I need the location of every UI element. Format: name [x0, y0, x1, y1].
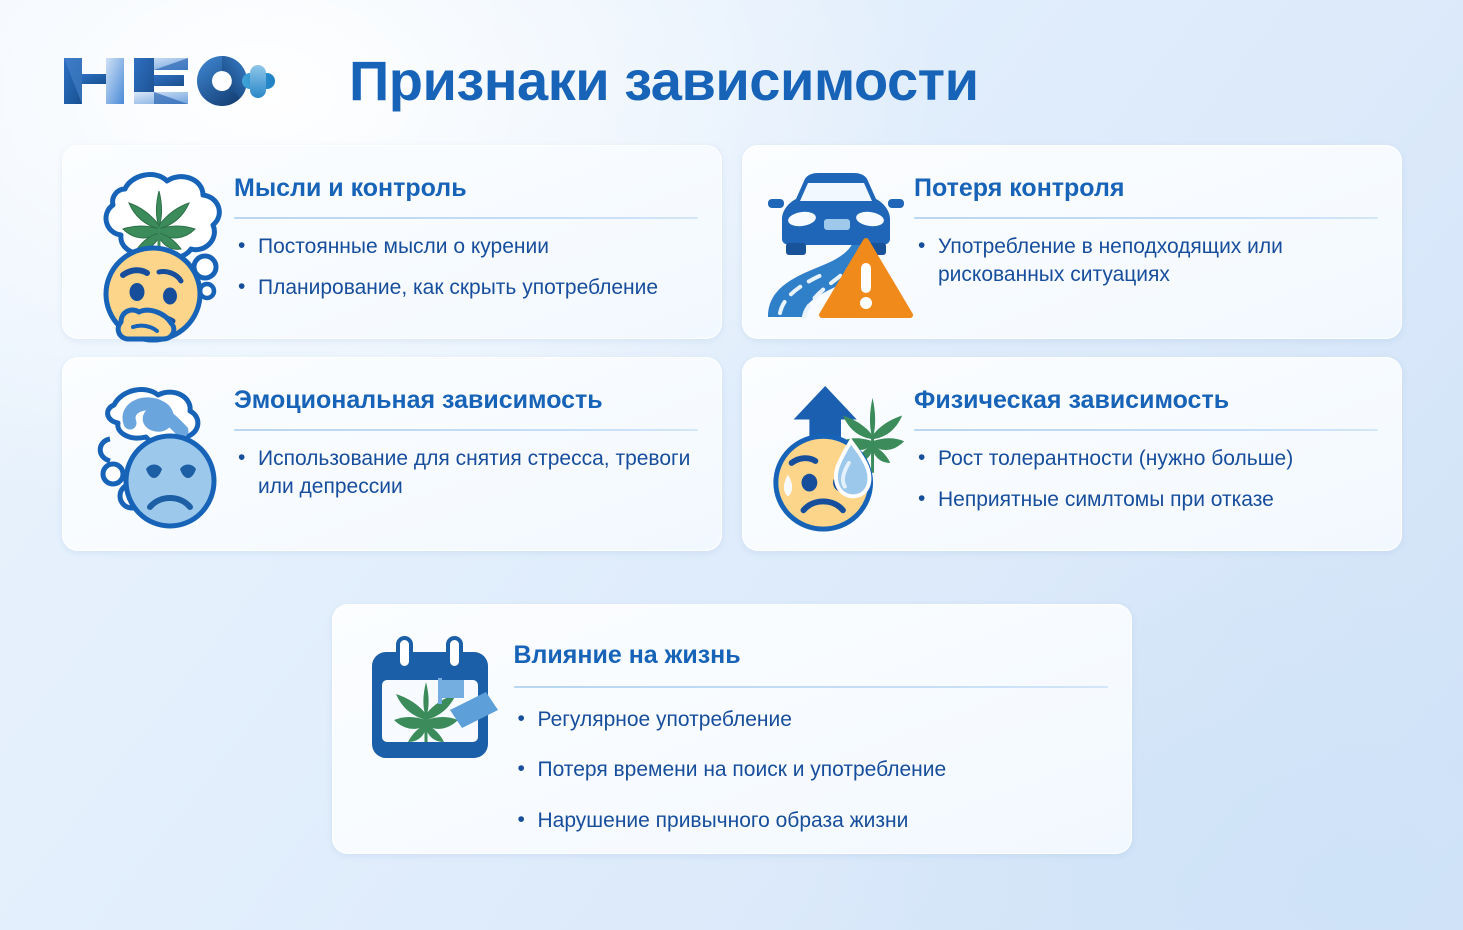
list-item: Использование для снятия стресса, тревог…	[234, 445, 698, 503]
bullet-list: Постоянные мысли о курении Планирование,…	[234, 233, 698, 304]
card-life-impact[interactable]: Влияние на жизнь Регулярное употребление…	[332, 604, 1132, 854]
list-item: Планирование, как скрыть употребление	[234, 274, 698, 303]
card-emotional-dependence[interactable]: Эмоциональная зависимость Использование …	[62, 357, 722, 551]
bullet-list: Использование для снятия стресса, тревог…	[234, 445, 698, 503]
thinking-face-thought-bubble-cannabis-icon	[85, 167, 233, 345]
brand-logo	[62, 50, 277, 112]
card-heading: Потеря контроля	[914, 175, 1378, 203]
bottom-card-row: Влияние на жизнь Регулярное употребление…	[0, 578, 1463, 854]
list-item: Употребление в неподходящих или рискован…	[914, 233, 1378, 291]
card-icon-slot	[84, 163, 234, 321]
card-icon-slot	[84, 375, 234, 533]
card-heading: Влияние на жизнь	[514, 642, 1108, 670]
list-item: Потеря времени на поиск и употребление	[514, 756, 1108, 785]
heading-divider	[234, 429, 698, 431]
card-body: Мысли и контроль Постоянные мысли о куре…	[234, 163, 698, 303]
page-header: Признаки зависимости	[0, 38, 1463, 124]
card-heading: Эмоциональная зависимость	[234, 387, 698, 415]
list-item: Регулярное употребление	[514, 706, 1108, 735]
card-heading: Физическая зависимость	[914, 387, 1378, 415]
cards-grid: Мысли и контроль Постоянные мысли о куре…	[62, 145, 1402, 551]
heading-divider	[514, 686, 1108, 688]
card-icon-slot	[764, 163, 914, 321]
page-title: Признаки зависимости	[349, 53, 979, 109]
bullet-list: Рост толерантности (нужно больше) Неприя…	[914, 445, 1378, 516]
card-icon-slot	[354, 622, 514, 772]
card-loss-of-control[interactable]: Потеря контроля Употребление в неподходя…	[742, 145, 1402, 339]
card-heading: Мысли и контроль	[234, 175, 698, 203]
bullet-list: Употребление в неподходящих или рискован…	[914, 233, 1378, 291]
card-physical-dependence[interactable]: Физическая зависимость Рост толерантност…	[742, 357, 1402, 551]
bullet-list: Регулярное употребление Потеря времени н…	[514, 706, 1108, 837]
heading-divider	[234, 217, 698, 219]
calendar-cannabis-leaf-icon	[364, 636, 504, 766]
card-body: Потеря контроля Употребление в неподходя…	[914, 163, 1378, 290]
heading-divider	[914, 429, 1378, 431]
list-item: Постоянные мысли о курении	[234, 233, 698, 262]
car-road-warning-triangle-icon	[764, 167, 914, 322]
list-item: Нарушение привычного образа жизни	[514, 807, 1108, 836]
card-body: Эмоциональная зависимость Использование …	[234, 375, 698, 502]
sad-blue-face-thought-bubble-icon	[84, 379, 234, 534]
card-thoughts-control[interactable]: Мысли и контроль Постоянные мысли о куре…	[62, 145, 722, 339]
sweating-sad-face-up-arrow-cannabis-icon	[764, 379, 914, 534]
card-icon-slot	[764, 375, 914, 533]
card-body: Физическая зависимость Рост толерантност…	[914, 375, 1378, 515]
list-item: Неприятные симлтомы при отказе	[914, 486, 1378, 515]
list-item: Рост толерантности (нужно больше)	[914, 445, 1378, 474]
neo-plus-logo-icon	[62, 50, 277, 112]
heading-divider	[914, 217, 1378, 219]
card-body: Влияние на жизнь Регулярное употребление…	[514, 622, 1108, 836]
